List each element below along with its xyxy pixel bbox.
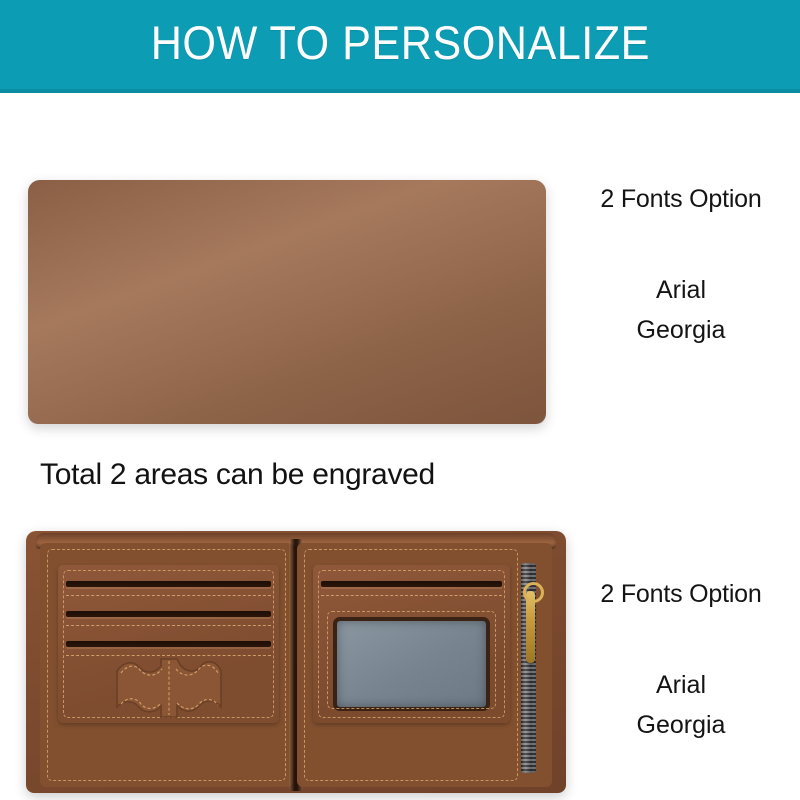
font-sample-arial-top: Arial: [562, 276, 800, 305]
font-sample-arial-bottom: Arial: [562, 671, 800, 700]
right-card-slot-stitch: [321, 595, 502, 596]
wallet-left-panel: [40, 543, 293, 787]
font-sample-georgia-bottom: Georgia: [562, 711, 800, 740]
engraving-areas-caption: Total 2 areas can be engraved: [40, 458, 550, 492]
card-slot-3-stitch: [66, 655, 271, 656]
card-slot-1: [66, 581, 271, 587]
zipper-pull-icon[interactable]: [526, 591, 535, 663]
right-card-slot: [321, 581, 502, 587]
wallet-leather-face: I love you, for what you have done for m…: [37, 189, 537, 415]
card-slot-2-stitch: [66, 625, 271, 626]
id-pocket-block: [313, 565, 510, 723]
engraved-message-line-3: and for our country,: [59, 302, 271, 320]
open-engraved-wallet-image: I love you, for what you have done for m…: [28, 180, 546, 424]
fonts-option-top-block: 2 Fonts Option Arial Georgia: [562, 185, 800, 345]
card-slot-2: [66, 611, 271, 617]
id-window: [333, 617, 490, 711]
engraved-message-line-1: I love you, for what you have: [59, 267, 271, 285]
wallet-center-fold: [282, 189, 292, 415]
font-sample-georgia-top: Georgia: [562, 316, 800, 345]
engraved-couple-photo: [309, 211, 527, 398]
page-title: HOW TO PERSONALIZE: [150, 15, 649, 74]
wallet-interior-image: [26, 531, 566, 793]
card-slot-3: [66, 641, 271, 647]
card-slot-block: [58, 565, 279, 723]
wallet-right-panel: [297, 543, 552, 787]
wavy-cut-pocket: [113, 657, 225, 719]
fonts-option-bottom-block: 2 Fonts Option Arial Georgia: [562, 580, 800, 740]
fonts-option-heading-bottom: 2 Fonts Option: [562, 580, 800, 609]
engraved-message: I love you, for what you have done for m…: [59, 267, 271, 337]
card-slot-1-stitch: [66, 595, 271, 596]
fonts-option-heading-top: 2 Fonts Option: [562, 185, 800, 214]
engraved-message-line-2: done for me, for our little family.: [59, 285, 271, 303]
engraved-message-line-4: you are my Hero.: [59, 320, 271, 338]
header-banner: HOW TO PERSONALIZE: [0, 0, 800, 93]
